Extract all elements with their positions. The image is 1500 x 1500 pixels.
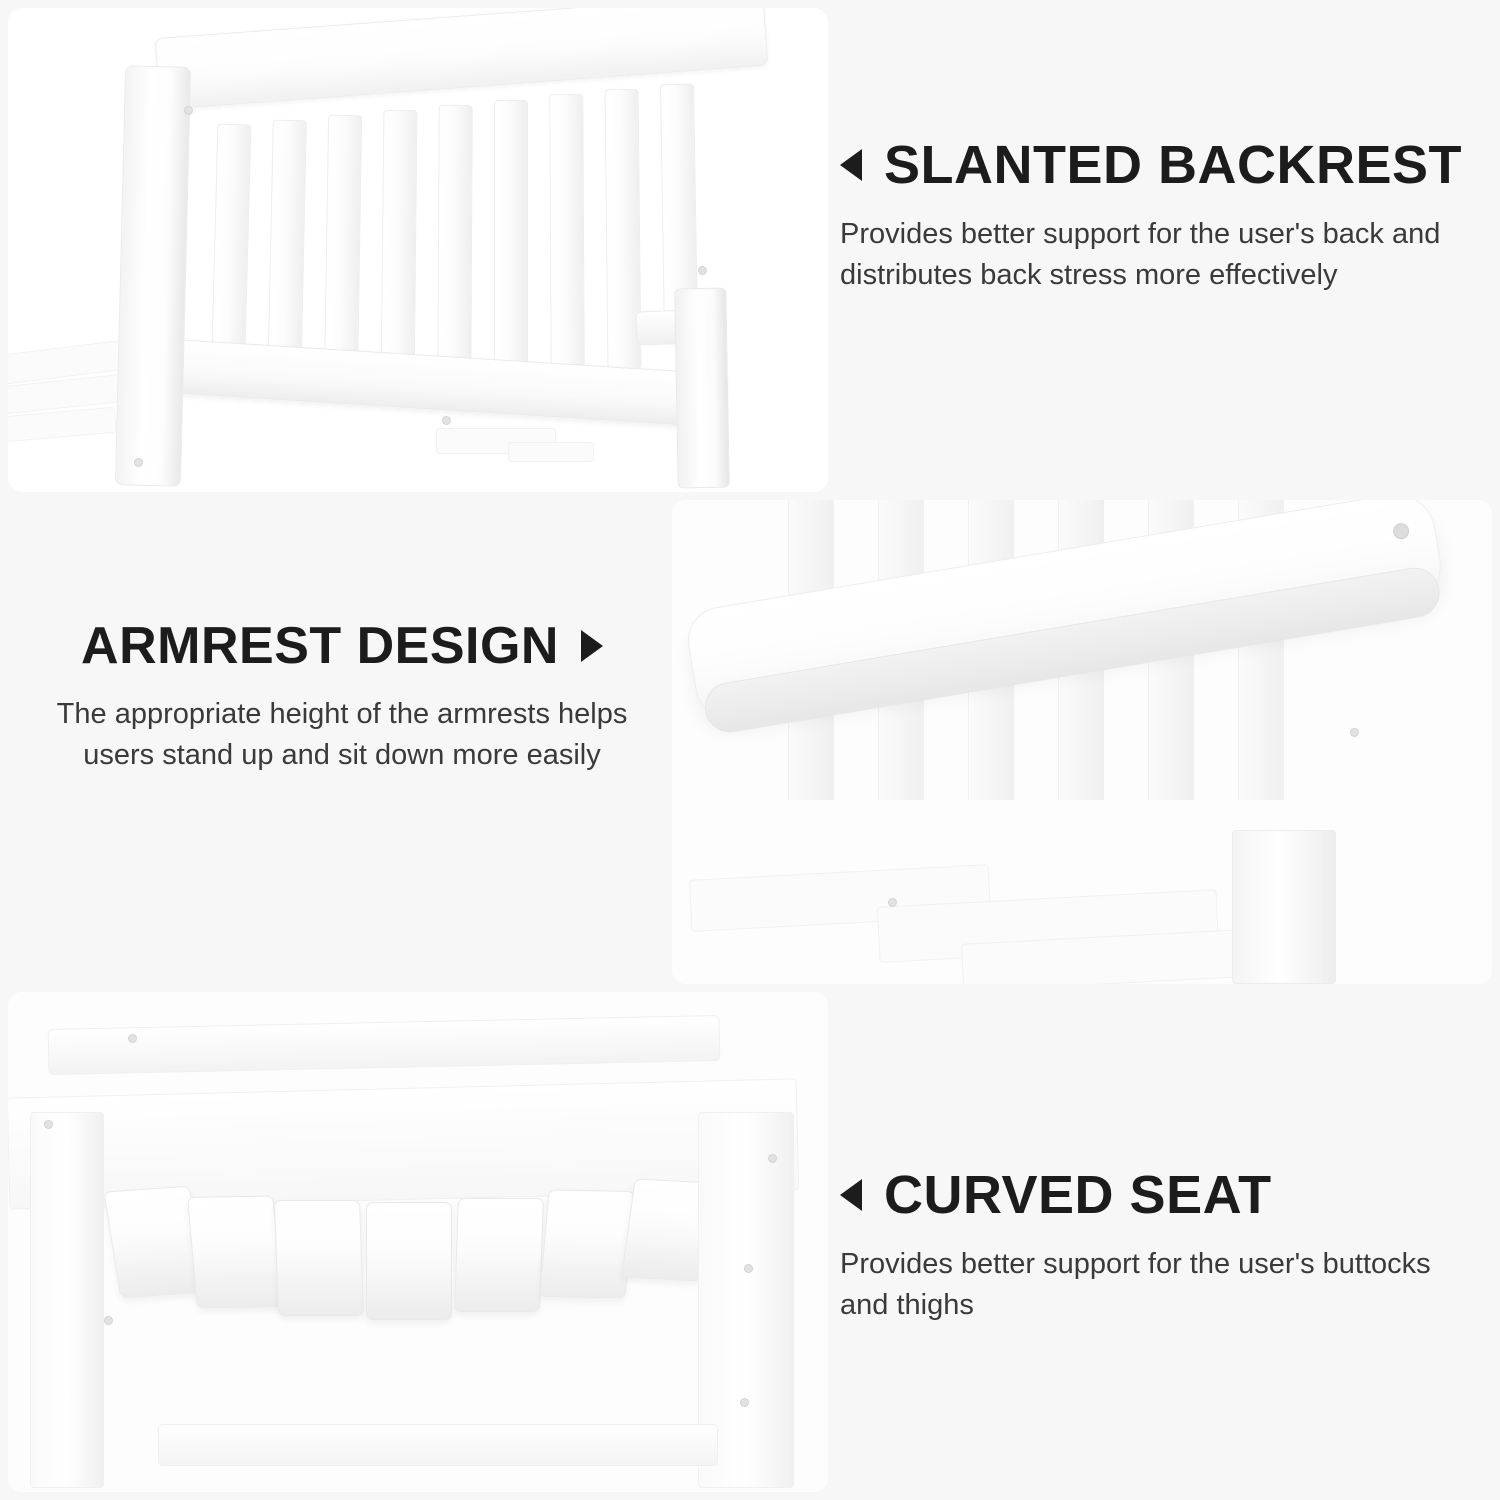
triangle-right-icon bbox=[581, 630, 603, 662]
seat-back-rail bbox=[48, 1015, 721, 1075]
backrest-slat bbox=[549, 94, 584, 376]
seat-slat bbox=[539, 1189, 635, 1298]
screw-icon bbox=[768, 1154, 777, 1163]
callout-armrest-description: The appropriate height of the armrests h… bbox=[22, 694, 662, 776]
callout-backrest-title: SLANTED BACKREST bbox=[884, 138, 1462, 192]
seat-photo-scene bbox=[8, 992, 828, 1492]
seat-slat bbox=[366, 1202, 452, 1320]
backrest-photo bbox=[8, 8, 828, 492]
screw-icon bbox=[740, 1398, 749, 1407]
backrest-slat bbox=[494, 100, 528, 382]
background-seat-slat bbox=[508, 442, 594, 462]
armrest-photo bbox=[672, 500, 1492, 984]
seat-slat bbox=[187, 1195, 283, 1308]
backrest-photo-scene bbox=[8, 8, 828, 492]
screw-icon bbox=[744, 1264, 753, 1273]
seat-left-post bbox=[30, 1112, 104, 1488]
screw-icon bbox=[128, 1034, 137, 1043]
triangle-left-icon bbox=[840, 149, 862, 181]
callout-armrest: ARMREST DESIGN The appropriate height of… bbox=[22, 620, 662, 776]
screw-icon bbox=[134, 458, 143, 467]
backrest-slat bbox=[324, 115, 362, 388]
screw-icon bbox=[888, 898, 897, 907]
screw-icon bbox=[44, 1120, 53, 1129]
callout-backrest-heading: SLANTED BACKREST bbox=[840, 138, 1480, 192]
seat-slat bbox=[454, 1198, 544, 1312]
screw-icon bbox=[442, 416, 451, 425]
triangle-left-icon bbox=[840, 1179, 862, 1211]
callout-seat-title: CURVED SEAT bbox=[884, 1168, 1272, 1222]
callout-armrest-title: ARMREST DESIGN bbox=[81, 620, 559, 672]
backrest-right-post bbox=[674, 288, 729, 489]
product-feature-collage: SLANTED BACKREST Provides better support… bbox=[0, 0, 1500, 1500]
screw-icon bbox=[104, 1316, 113, 1325]
backrest-slat bbox=[381, 110, 418, 386]
callout-seat-description: Provides better support for the user's b… bbox=[840, 1244, 1480, 1326]
backrest-slat bbox=[437, 105, 472, 385]
armrest-support-post bbox=[1232, 830, 1336, 984]
screw-icon bbox=[698, 266, 707, 275]
seat-lower-rail bbox=[158, 1424, 718, 1466]
callout-seat-heading: CURVED SEAT bbox=[840, 1168, 1480, 1222]
callout-backrest: SLANTED BACKREST Provides better support… bbox=[840, 138, 1480, 296]
screw-icon bbox=[184, 106, 193, 115]
callout-armrest-heading: ARMREST DESIGN bbox=[22, 620, 662, 672]
backrest-left-post bbox=[115, 65, 191, 486]
armrest-photo-scene bbox=[672, 500, 1492, 984]
callout-backrest-description: Provides better support for the user's b… bbox=[840, 214, 1480, 296]
seat-photo bbox=[8, 992, 828, 1492]
screw-icon bbox=[1350, 728, 1359, 737]
callout-seat: CURVED SEAT Provides better support for … bbox=[840, 1168, 1480, 1326]
seat-slat bbox=[274, 1200, 364, 1316]
